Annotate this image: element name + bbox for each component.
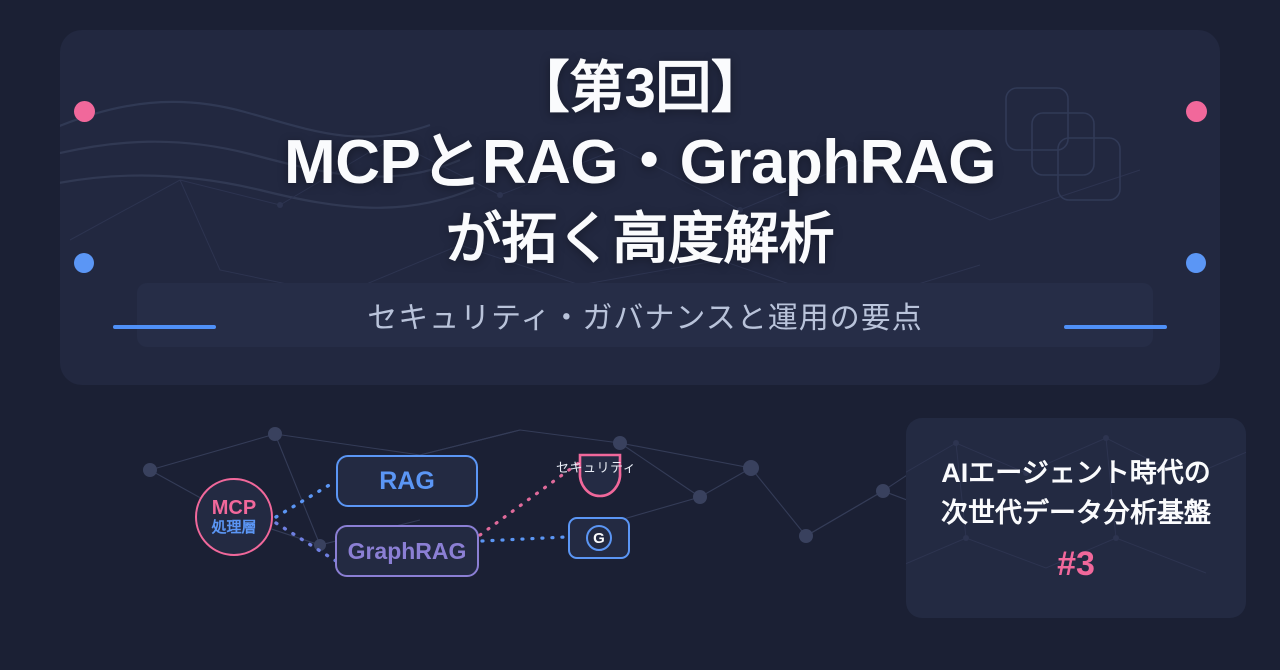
- security-label: セキュリティ: [556, 457, 636, 476]
- accent-line-left: [113, 325, 216, 329]
- g-badge-icon: G: [586, 525, 612, 551]
- governance-badge-box[interactable]: G: [568, 517, 630, 559]
- subtitle-text: セキュリティ・ガバナンスと運用の要点: [367, 293, 923, 337]
- mcp-node[interactable]: MCP 処理層: [195, 478, 273, 556]
- mcp-node-label-top: MCP: [212, 498, 256, 519]
- series-card-line-2: 次世代データ分析基盤: [941, 493, 1211, 533]
- page-title: 【第3回】 MCPとRAG・GraphRAG が拓く高度解析: [60, 30, 1220, 276]
- graphrag-box-label: GraphRAG: [348, 538, 467, 565]
- subtitle-band: セキュリティ・ガバナンスと運用の要点: [137, 283, 1153, 347]
- accent-line-right: [1064, 325, 1167, 329]
- mcp-node-label-bottom: 処理層: [211, 519, 256, 537]
- title-line-2: MCPとRAG・GraphRAG: [60, 124, 1220, 202]
- graphrag-box[interactable]: GraphRAG: [335, 525, 479, 577]
- title-line-3: が拓く高度解析: [60, 202, 1220, 276]
- title-line-1: 【第3回】: [60, 30, 1220, 124]
- series-card-issue-number: #3: [1057, 545, 1095, 584]
- rag-box[interactable]: RAG: [336, 455, 478, 507]
- series-card-line-1: AIエージェント時代の: [941, 453, 1210, 493]
- rag-box-label: RAG: [379, 467, 435, 496]
- series-info-card: AIエージェント時代の 次世代データ分析基盤 #3: [906, 418, 1246, 618]
